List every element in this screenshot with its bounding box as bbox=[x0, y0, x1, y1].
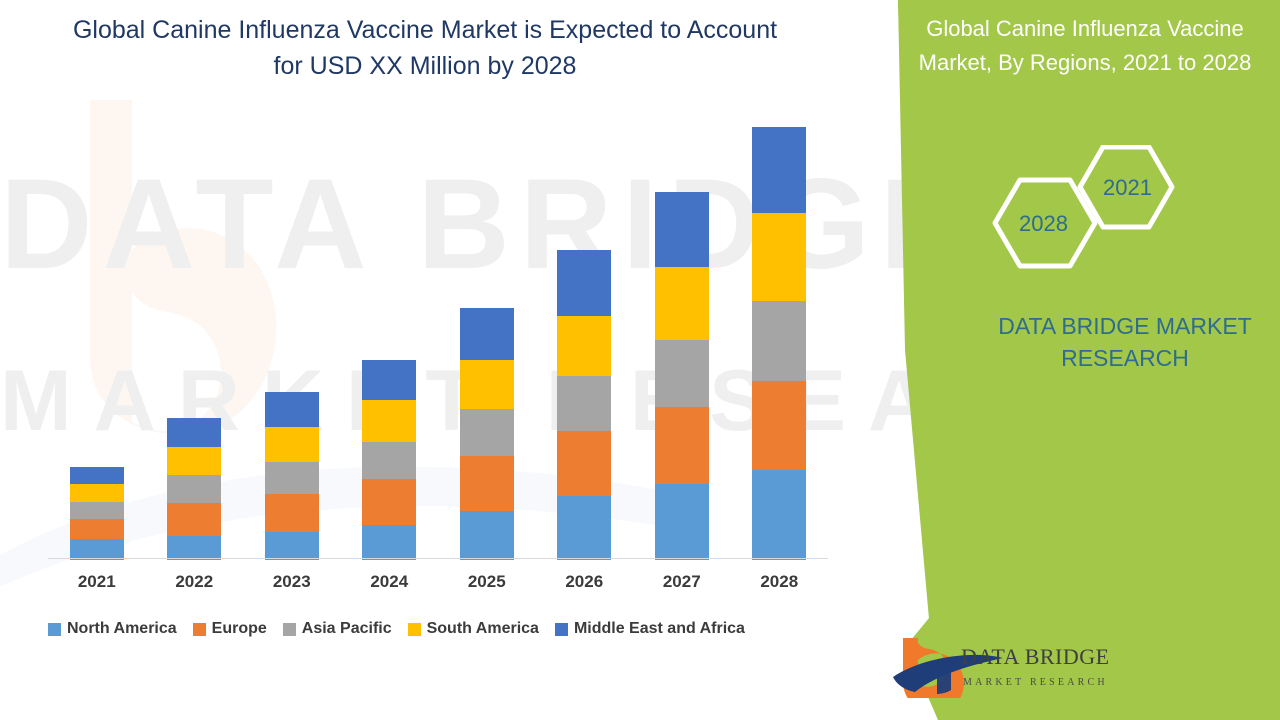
hex-badge-2028-label: 2028 bbox=[1019, 211, 1068, 237]
bar-segment-2026-europe bbox=[557, 431, 611, 496]
bar-segment-2022-middle-east-and-africa bbox=[167, 418, 221, 447]
x-axis-label-2025: 2025 bbox=[457, 572, 517, 592]
legend-item-asia-pacific[interactable]: Asia Pacific bbox=[283, 620, 392, 638]
bar-segment-2027-south-america bbox=[655, 267, 709, 340]
hexagon-badges: 2028 2021 bbox=[975, 145, 1205, 305]
bar-segment-2023-middle-east-and-africa bbox=[265, 392, 319, 427]
hex-badge-2021-label: 2021 bbox=[1103, 175, 1152, 201]
page-title: Global Canine Influenza Vaccine Market i… bbox=[30, 12, 820, 84]
bar-segment-2027-europe bbox=[655, 407, 709, 483]
legend-item-europe[interactable]: Europe bbox=[193, 620, 267, 638]
brand-name: DATA BRIDGE MARKET RESEARCH bbox=[960, 310, 1280, 374]
bar-column-2022 bbox=[167, 418, 221, 560]
bar-segment-2027-asia-pacific bbox=[655, 340, 709, 407]
bar-segment-2026-middle-east-and-africa bbox=[557, 250, 611, 316]
legend-label: Asia Pacific bbox=[302, 620, 392, 638]
bar-segment-2021-south-america bbox=[70, 484, 124, 503]
logo-primary-text: DATA BRIDGE bbox=[961, 644, 1108, 669]
legend-swatch-icon bbox=[408, 623, 421, 636]
bar-column-2024 bbox=[362, 360, 416, 560]
bar-segment-2023-europe bbox=[265, 494, 319, 532]
panel-title: Global Canine Influenza Vaccine Market, … bbox=[890, 12, 1280, 80]
x-axis-label-2021: 2021 bbox=[67, 572, 127, 592]
legend-item-middle-east-and-africa[interactable]: Middle East and Africa bbox=[555, 620, 745, 638]
company-logo: DATA BRIDGE MARKET RESEARCH bbox=[893, 636, 1108, 698]
bar-column-2021 bbox=[70, 467, 124, 560]
bar-segment-2028-north-america bbox=[752, 470, 806, 560]
bar-segment-2024-middle-east-and-africa bbox=[362, 360, 416, 401]
bar-segment-2023-asia-pacific bbox=[265, 462, 319, 494]
bar-segment-2026-north-america bbox=[557, 496, 611, 560]
bar-segment-2023-north-america bbox=[265, 532, 319, 560]
bar-segment-2025-europe bbox=[460, 456, 514, 512]
x-axis-label-2028: 2028 bbox=[749, 572, 809, 592]
bar-segment-2021-europe bbox=[70, 519, 124, 539]
bar-segment-2022-asia-pacific bbox=[167, 475, 221, 503]
legend-swatch-icon bbox=[193, 623, 206, 636]
bar-column-2025 bbox=[460, 308, 514, 560]
chart-title-line-2: for USD XX Million by 2028 bbox=[30, 48, 820, 84]
logo-secondary-text: MARKET RESEARCH bbox=[963, 677, 1108, 688]
bar-segment-2027-middle-east-and-africa bbox=[655, 192, 709, 267]
bar-segment-2025-north-america bbox=[460, 511, 514, 560]
bar-segment-2024-europe bbox=[362, 479, 416, 525]
panel-title-line-1: Global Canine Influenza Vaccine bbox=[890, 12, 1280, 46]
bar-column-2028 bbox=[752, 127, 806, 560]
bar-segment-2028-europe bbox=[752, 381, 806, 470]
x-axis-label-2024: 2024 bbox=[359, 572, 419, 592]
legend-label: South America bbox=[427, 620, 539, 638]
bar-segment-2027-north-america bbox=[655, 484, 709, 560]
legend-swatch-icon bbox=[283, 623, 296, 636]
bar-column-2027 bbox=[655, 192, 709, 560]
bar-segment-2024-south-america bbox=[362, 400, 416, 442]
x-axis-label-2023: 2023 bbox=[262, 572, 322, 592]
legend-swatch-icon bbox=[555, 623, 568, 636]
chart-plot-area bbox=[48, 120, 828, 560]
bar-segment-2025-middle-east-and-africa bbox=[460, 308, 514, 360]
x-axis-label-2022: 2022 bbox=[164, 572, 224, 592]
x-axis-line bbox=[48, 558, 828, 559]
bar-column-2026 bbox=[557, 250, 611, 560]
x-axis-label-2027: 2027 bbox=[652, 572, 712, 592]
bar-segment-2022-north-america bbox=[167, 536, 221, 560]
legend-label: Europe bbox=[212, 620, 267, 638]
bar-segment-2022-europe bbox=[167, 503, 221, 535]
chart-title-line-1: Global Canine Influenza Vaccine Market i… bbox=[30, 12, 820, 48]
x-axis-label-2026: 2026 bbox=[554, 572, 614, 592]
bar-segment-2025-asia-pacific bbox=[460, 409, 514, 455]
bar-segment-2021-asia-pacific bbox=[70, 502, 124, 519]
bar-segment-2024-asia-pacific bbox=[362, 442, 416, 479]
panel-title-line-2: Market, By Regions, 2021 to 2028 bbox=[890, 46, 1280, 80]
chart-legend: North AmericaEuropeAsia PacificSouth Ame… bbox=[48, 616, 761, 642]
bar-segment-2028-middle-east-and-africa bbox=[752, 127, 806, 213]
bar-segment-2025-south-america bbox=[460, 360, 514, 410]
bar-segment-2022-south-america bbox=[167, 447, 221, 476]
bar-segment-2028-south-america bbox=[752, 213, 806, 301]
bar-segment-2026-south-america bbox=[557, 316, 611, 376]
bar-segment-2028-asia-pacific bbox=[752, 301, 806, 381]
brand-name-line-1: DATA BRIDGE MARKET bbox=[960, 310, 1280, 342]
bar-segment-2021-middle-east-and-africa bbox=[70, 467, 124, 483]
brand-name-line-2: RESEARCH bbox=[960, 342, 1280, 374]
legend-item-south-america[interactable]: South America bbox=[408, 620, 539, 638]
legend-swatch-icon bbox=[48, 623, 61, 636]
legend-item-north-america[interactable]: North America bbox=[48, 620, 177, 638]
bar-column-2023 bbox=[265, 392, 319, 560]
bar-segment-2026-asia-pacific bbox=[557, 376, 611, 432]
bar-segment-2023-south-america bbox=[265, 427, 319, 462]
bar-segment-2024-north-america bbox=[362, 525, 416, 560]
bar-segment-2021-north-america bbox=[70, 539, 124, 560]
legend-label: North America bbox=[67, 620, 177, 638]
legend-label: Middle East and Africa bbox=[574, 620, 745, 638]
x-axis-labels: 20212022202320242025202620272028 bbox=[48, 572, 828, 600]
